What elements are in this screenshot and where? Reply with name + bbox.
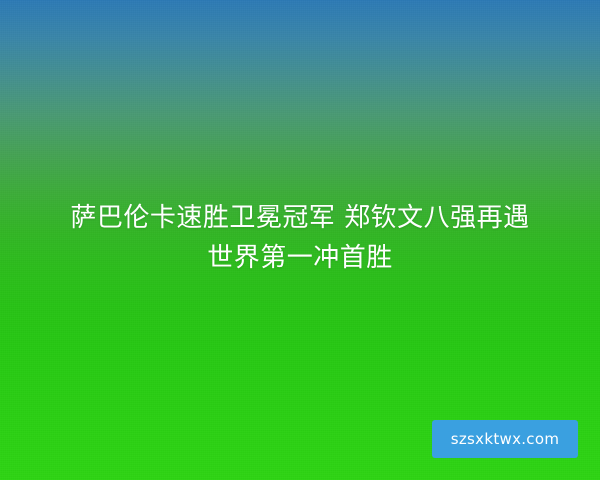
headline-text: 萨巴伦卡速胜卫冕冠军 郑钦文八强再遇 世界第一冲首胜 [0,198,600,278]
watermark-label: szsxktwx.com [451,430,560,448]
watermark-badge: szsxktwx.com [432,420,578,458]
poster-image: 萨巴伦卡速胜卫冕冠军 郑钦文八强再遇 世界第一冲首胜 szsxktwx.com [0,0,600,480]
